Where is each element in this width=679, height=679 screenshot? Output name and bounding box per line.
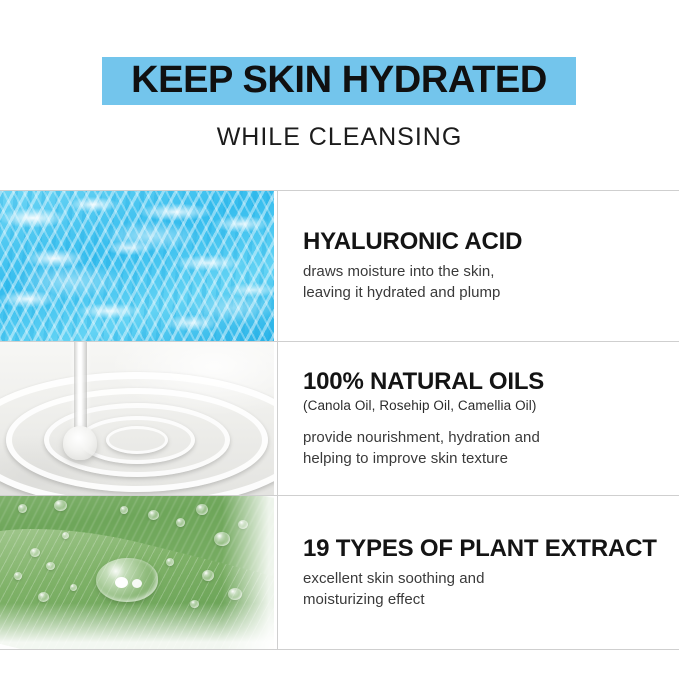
water-droplet (148, 510, 159, 520)
water-droplet (166, 558, 174, 566)
page-subtitle: WHILE CLEANSING (0, 124, 679, 152)
ingredient-benefits-infographic: KEEP SKIN HYDRATED WHILE CLEANSING HYALU… (0, 0, 679, 679)
water-droplet (18, 504, 27, 513)
water-droplet (120, 506, 128, 514)
ingredient-title: HYALURONIC ACID (303, 228, 679, 256)
header: KEEP SKIN HYDRATED WHILE CLEANSING (0, 0, 679, 190)
ingredient-row-hyaluronic-acid: HYALURONIC ACID draws moisture into the … (0, 190, 679, 341)
milk-ripple-texture (0, 342, 274, 495)
water-droplet (14, 572, 22, 580)
water-droplet (38, 592, 49, 602)
description-line: moisturizing effect (303, 589, 679, 610)
water-droplet (54, 500, 67, 511)
water-droplet (62, 532, 69, 539)
water-droplet (202, 570, 214, 581)
water-droplet (30, 548, 40, 557)
page-title: KEEP SKIN HYDRATED (131, 61, 547, 99)
ripple-ring (106, 426, 168, 454)
water-surface-texture (0, 191, 274, 341)
water-droplet (176, 518, 185, 527)
water-ripples-photo (0, 191, 274, 341)
droplet-highlight (132, 579, 142, 588)
ingredient-text-block: 19 TYPES OF PLANT EXTRACT excellent skin… (277, 496, 679, 649)
ingredient-description: provide nourishment, hydration and helpi… (303, 427, 679, 470)
title-highlight-band: KEEP SKIN HYDRATED (102, 57, 576, 105)
ingredient-text-block: HYALURONIC ACID draws moisture into the … (277, 191, 679, 341)
milk-pour-ripple-photo (0, 342, 274, 495)
liquid-splash (63, 426, 97, 460)
ingredient-text-block: 100% NATURAL OILS (Canola Oil, Rosehip O… (277, 342, 679, 495)
green-leaf-dewdrops-photo (0, 496, 274, 649)
ingredient-row-natural-oils: 100% NATURAL OILS (Canola Oil, Rosehip O… (0, 341, 679, 495)
description-line: draws moisture into the skin, (303, 261, 679, 282)
ingredient-title: 100% NATURAL OILS (303, 368, 679, 396)
water-droplet (70, 584, 77, 591)
water-droplet (196, 504, 208, 515)
large-water-droplet (96, 558, 158, 602)
droplet-highlight (115, 577, 128, 588)
description-line: provide nourishment, hydration and (303, 427, 679, 448)
leaf-texture (0, 496, 274, 649)
ingredient-list: HYALURONIC ACID draws moisture into the … (0, 190, 679, 651)
description-line: excellent skin soothing and (303, 568, 679, 589)
water-droplet (46, 562, 55, 570)
ingredient-row-plant-extract: 19 TYPES OF PLANT EXTRACT excellent skin… (0, 495, 679, 650)
ingredient-subtitle: (Canola Oil, Rosehip Oil, Camellia Oil) (303, 397, 679, 415)
liquid-stream (74, 342, 87, 436)
description-line: helping to improve skin texture (303, 448, 679, 469)
ingredient-title: 19 TYPES OF PLANT EXTRACT (303, 535, 679, 563)
ingredient-description: draws moisture into the skin, leaving it… (303, 261, 679, 304)
description-line: leaving it hydrated and plump (303, 282, 679, 303)
bottom-edge-fade (0, 603, 274, 649)
ingredient-description: excellent skin soothing and moisturizing… (303, 568, 679, 611)
